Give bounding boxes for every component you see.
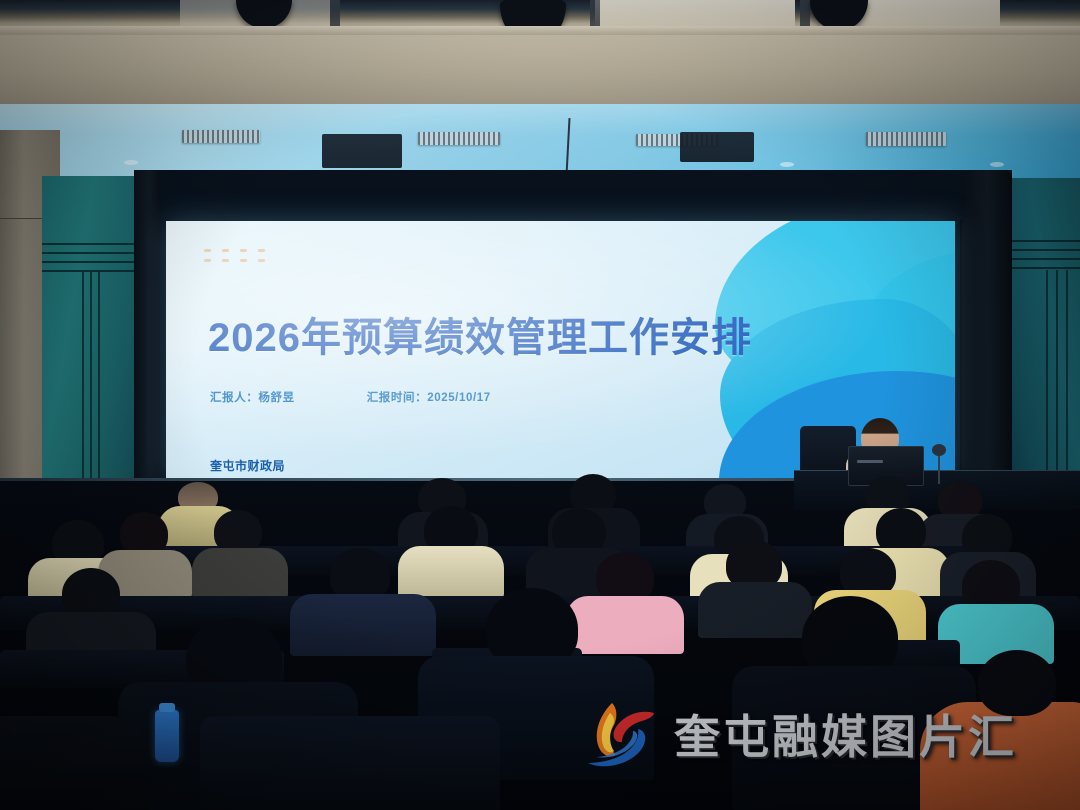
skylight-panel [595, 0, 795, 26]
panel-groove [1010, 240, 1080, 242]
microphone-icon [932, 444, 946, 456]
audience-shoulders [566, 596, 684, 654]
water-bottle [155, 710, 179, 762]
panel-groove [42, 243, 134, 245]
slide-date-label: 汇报时间：2025/10/17 [367, 389, 491, 405]
ceiling-downlight [780, 162, 794, 167]
podium-desk [794, 470, 1080, 510]
ceiling-air-vent [182, 130, 260, 143]
soffit-edge-trim [0, 26, 1080, 35]
panel-groove [42, 252, 134, 254]
right-teal-wall-panel [1010, 178, 1080, 510]
conference-hall-photo: 2026年预算绩效管理工作安排 汇报人：杨舒昱 汇报时间：2025/10/17 … [0, 0, 1080, 810]
panel-groove [42, 261, 134, 263]
slide-presenter-label: 汇报人：杨舒昱 [210, 389, 295, 405]
panel-groove [1010, 267, 1080, 269]
audience-shoulders [192, 548, 288, 598]
audience-shoulders [398, 546, 504, 598]
left-teal-wall-panel [42, 176, 134, 510]
watermark: 奎屯融媒图片汇 [578, 692, 998, 776]
slide-dot-decoration [204, 249, 276, 262]
seat-back-front [200, 716, 500, 810]
ceiling-downlight [124, 160, 138, 165]
ceiling-soffit [0, 26, 1080, 104]
panel-groove [1010, 249, 1080, 251]
audience-shoulders [698, 582, 812, 638]
ceiling-air-vent [418, 132, 500, 145]
right-dark-pillar [962, 170, 1012, 510]
ceiling-recessed-panel [680, 132, 754, 162]
slide-organization-label: 奎屯市财政局 [210, 457, 285, 474]
slide-title: 2026年预算绩效管理工作安排 [208, 305, 752, 363]
stage-backdrop [160, 170, 964, 216]
slide-metadata-row: 汇报人：杨舒昱 汇报时间：2025/10/17 [210, 389, 491, 405]
ceiling-air-vent [866, 132, 946, 146]
panel-groove [82, 272, 84, 510]
watermark-text: 奎屯融媒图片汇 [674, 701, 1017, 767]
panel-groove [90, 272, 92, 510]
ceiling-downlight [990, 162, 1004, 167]
audience-shoulders [290, 594, 436, 656]
panel-groove [98, 272, 100, 510]
media-logo-icon [578, 697, 662, 771]
panel-groove [1010, 258, 1080, 260]
panel-groove [42, 270, 134, 272]
audience-shoulders [0, 716, 150, 810]
ceiling-recessed-panel [322, 134, 402, 168]
